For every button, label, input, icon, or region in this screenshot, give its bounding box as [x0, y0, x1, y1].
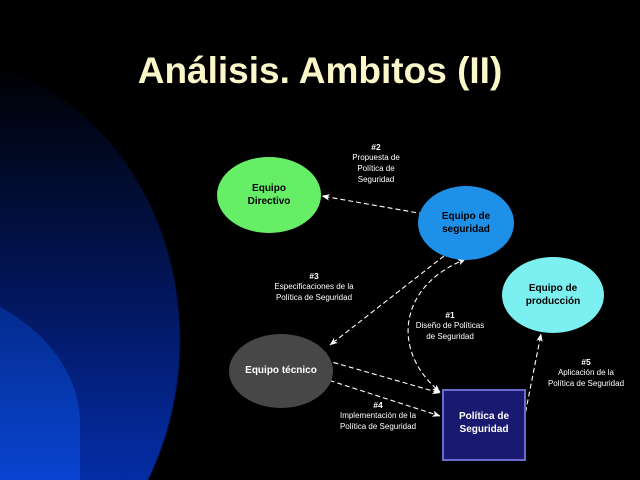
node-equipo-tecnico[interactable] — [229, 334, 333, 408]
edge-5-line — [524, 334, 541, 420]
edge-2-line — [322, 196, 424, 214]
edge-4-line-a — [318, 358, 440, 393]
diagram-canvas: Equipo Directivo --> Equipo técnico --> … — [0, 0, 640, 480]
edge-4-line-b — [322, 378, 440, 416]
node-equipo-produccion[interactable] — [502, 257, 604, 333]
slide-canvas: Análisis. Ambitos (II) Equipo Directivo … — [0, 0, 640, 480]
edge-3-line — [330, 256, 444, 345]
node-equipo-directivo[interactable] — [217, 157, 321, 233]
node-equipo-seguridad[interactable] — [418, 186, 514, 260]
node-politica-seguridad[interactable] — [443, 390, 525, 460]
edge-1-line — [408, 262, 459, 392]
